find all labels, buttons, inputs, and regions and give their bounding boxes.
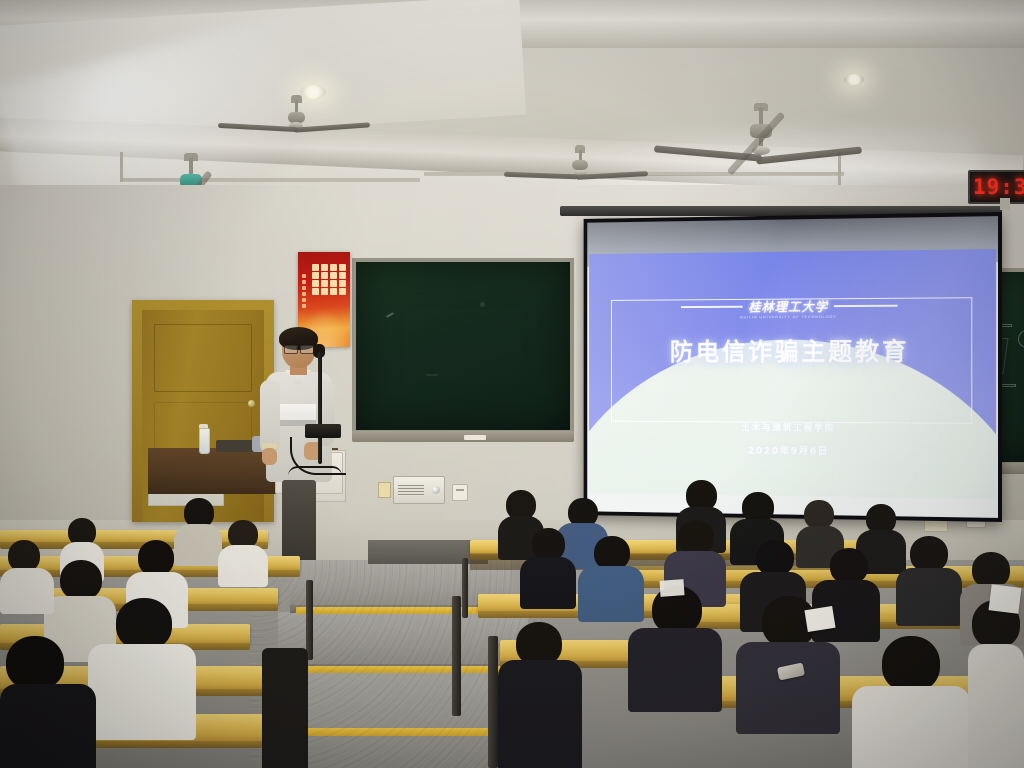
desk-leg-2 — [488, 636, 498, 768]
wall-outlet-left[interactable] — [452, 484, 468, 501]
student-front-3 — [852, 636, 970, 768]
microphone-base-unit — [305, 424, 341, 438]
student-mid-1 — [520, 528, 576, 602]
ceiling-fan-right — [686, 108, 836, 166]
ceiling-lamp-left — [300, 85, 326, 99]
student-front-4 — [968, 600, 1024, 768]
amplifier-plug — [378, 482, 391, 498]
university-name-cn: 桂林理工大学 — [748, 297, 828, 316]
student-left-8 — [0, 540, 54, 606]
lecture-hall-photo: 桂林理工大学 GUILIN UNIVERSITY OF TECHNOLOGY 防… — [0, 0, 1024, 768]
desk-leg-1 — [452, 596, 461, 716]
handout-paper-1[interactable] — [804, 606, 835, 632]
student-left-7 — [0, 636, 96, 768]
slide-main-title: 防电信诈骗主题教育 — [589, 332, 996, 368]
led-wall-clock: 19:3 — [968, 170, 1024, 204]
ceiling-fan-far-left — [236, 100, 356, 144]
clock-time: 19:3 — [970, 175, 1024, 199]
student-front-5 — [498, 622, 582, 768]
door-knob[interactable] — [248, 400, 255, 407]
glasses-icon — [284, 345, 314, 352]
chalk-eraser — [464, 435, 486, 440]
clock-mount-bracket — [1000, 198, 1010, 210]
projection-screen: 桂林理工大学 GUILIN UNIVERSITY OF TECHNOLOGY 防… — [584, 212, 1002, 522]
water-bottle[interactable] — [199, 428, 210, 454]
student-left-6 — [88, 598, 196, 732]
student-mid-6 — [896, 536, 962, 620]
wall-amplifier-box[interactable] — [393, 476, 445, 504]
student-left-3 — [218, 520, 268, 578]
handout-paper-2[interactable] — [989, 584, 1022, 613]
ceiling-lamp-right — [844, 74, 864, 85]
student-front-1 — [628, 586, 722, 706]
presentation-slide: 桂林理工大学 GUILIN UNIVERSITY OF TECHNOLOGY 防… — [589, 249, 996, 499]
logo-rule-right — [834, 305, 898, 307]
student-left-9 — [262, 608, 314, 768]
microphone-cable-loop — [288, 466, 342, 476]
logo-rule-left — [681, 306, 743, 308]
handout-paper-3[interactable] — [659, 579, 684, 597]
desk-leg-5 — [462, 558, 468, 618]
chalkboard-left — [352, 258, 574, 434]
